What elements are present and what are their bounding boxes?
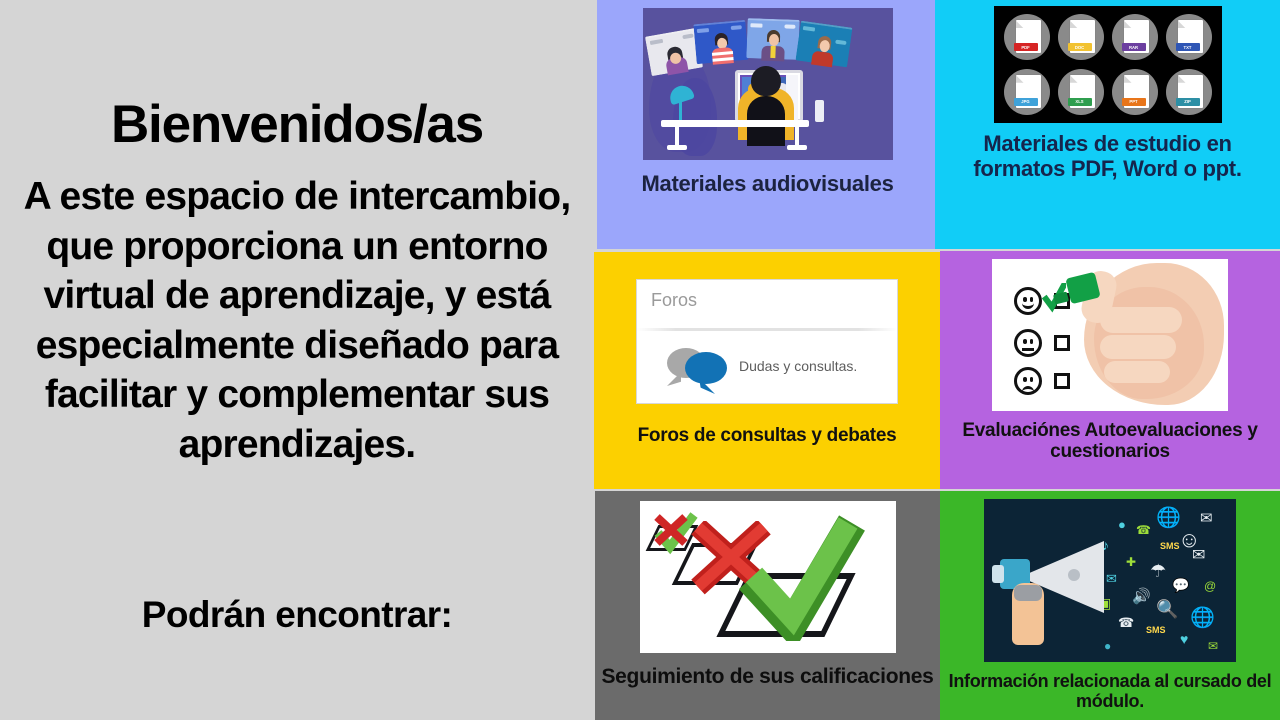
file-icon-txt: TXT [1164,12,1214,63]
forum-panel-text: Dudas y consultas. [739,358,857,374]
file-icon-xls: XLS [1056,67,1106,118]
file-icon-doc: DOC [1056,12,1106,63]
grid-cell-seguimiento[interactable]: Seguimiento de sus calificaciones [595,491,940,720]
cell-caption-informacion: Información relacionada al cursado del m… [940,671,1280,711]
file-icon-rar: RAR [1110,12,1160,63]
file-formats-image: PDF DOC RAR TXT [994,6,1222,123]
left-text-column: Bienvenidos/as A este espacio de interca… [0,0,594,720]
feature-grid: Materiales audiovisuales PDF DOC [594,0,1280,720]
cell-caption-materiales-audiovisuales: Materiales audiovisuales [641,172,893,197]
survey-hand-image [992,259,1228,411]
slide-root: Bienvenidos/as A este espacio de interca… [0,0,1280,720]
grid-cell-evaluaciones[interactable]: Evaluaciónes Autoevaluaciones y cuestion… [940,251,1280,489]
file-icon-label: JPG [1014,98,1038,106]
cross-mark-small-icon [652,513,690,547]
file-icon-ppt: PPT [1110,67,1160,118]
file-icon-label: DOC [1068,43,1092,51]
file-icon-label: ZIP [1176,98,1200,106]
grid-cell-materiales-estudio[interactable]: PDF DOC RAR TXT [935,0,1280,249]
file-icon-label: XLS [1068,98,1092,106]
intro-paragraph: A este espacio de intercambio, que propo… [8,172,586,469]
smiley-sad-icon [1014,367,1042,395]
checkboxes-image [640,501,896,653]
file-icon-label: TXT [1176,43,1200,51]
cell-caption-evaluaciones: Evaluaciónes Autoevaluaciones y cuestion… [940,420,1280,463]
file-icon-label: RAR [1122,43,1146,51]
smiley-neutral-icon [1014,329,1042,357]
cell-caption-seguimiento: Seguimiento de sus calificaciones [601,665,933,689]
file-icon-pdf: PDF [1002,12,1052,63]
call-to-action-text: Podrán encontrar: [0,594,594,636]
forum-panel-title: Foros [651,290,697,311]
checkbox-neutral[interactable] [1054,335,1070,351]
page-title: Bienvenidos/as [0,98,594,151]
megaphone-image: 🌐 ✉ ● ☎ ☺ ♪ SMS ✉ ✚ ☂ ✉ 💬 @ 🔊 ▣ 🔍 🌐 [984,499,1236,662]
video-conference-image [643,8,893,160]
smiley-happy-icon [1014,287,1042,315]
grid-cell-informacion[interactable]: 🌐 ✉ ● ☎ ☺ ♪ SMS ✉ ✚ ☂ ✉ 💬 @ 🔊 ▣ 🔍 🌐 [940,491,1280,720]
check-mark-large-icon [736,513,866,641]
file-icon-label: PPT [1122,98,1146,106]
file-icon-label: PDF [1014,43,1038,51]
file-icon-zip: ZIP [1164,67,1214,118]
file-icon-jpg: JPG [1002,67,1052,118]
checkbox-sad[interactable] [1054,373,1070,389]
grid-cell-materiales-audiovisuales[interactable]: Materiales audiovisuales [597,0,938,249]
cell-caption-foros: Foros de consultas y debates [638,425,897,446]
cell-caption-materiales-estudio: Materiales de estudio en formatos PDF, W… [935,132,1280,181]
file-icon-grid: PDF DOC RAR TXT [1002,12,1214,117]
grid-cell-foros[interactable]: Foros Dudas y consultas. Foros de consul… [594,252,940,489]
forum-screenshot-image: Foros Dudas y consultas. [636,279,898,404]
